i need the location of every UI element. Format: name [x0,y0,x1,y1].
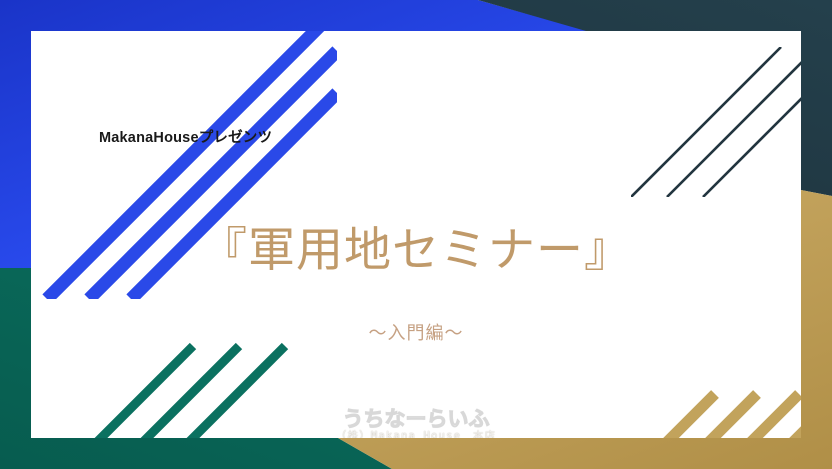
presentation-slide: MakanaHouseプレゼンツ 『軍用地セミナー』 〜入門編〜 うちなーらいふ… [0,0,832,469]
watermark-company-name: （株）Makana House 本店 [31,430,801,438]
page-subtitle: 〜入門編〜 [31,319,801,345]
watermark-brand-mark: うちなーらいふ [31,408,801,430]
diagonal-stripes-gold-icon [631,378,801,438]
slide-content-card: MakanaHouseプレゼンツ 『軍用地セミナー』 〜入門編〜 うちなーらいふ… [31,31,801,438]
watermark-logo: うちなーらいふ （株）Makana House 本店 [31,408,801,438]
kicker-text: MakanaHouseプレゼンツ [99,126,272,147]
page-title: 『軍用地セミナー』 [31,211,801,280]
diagonal-stripes-navy-icon [631,47,801,197]
